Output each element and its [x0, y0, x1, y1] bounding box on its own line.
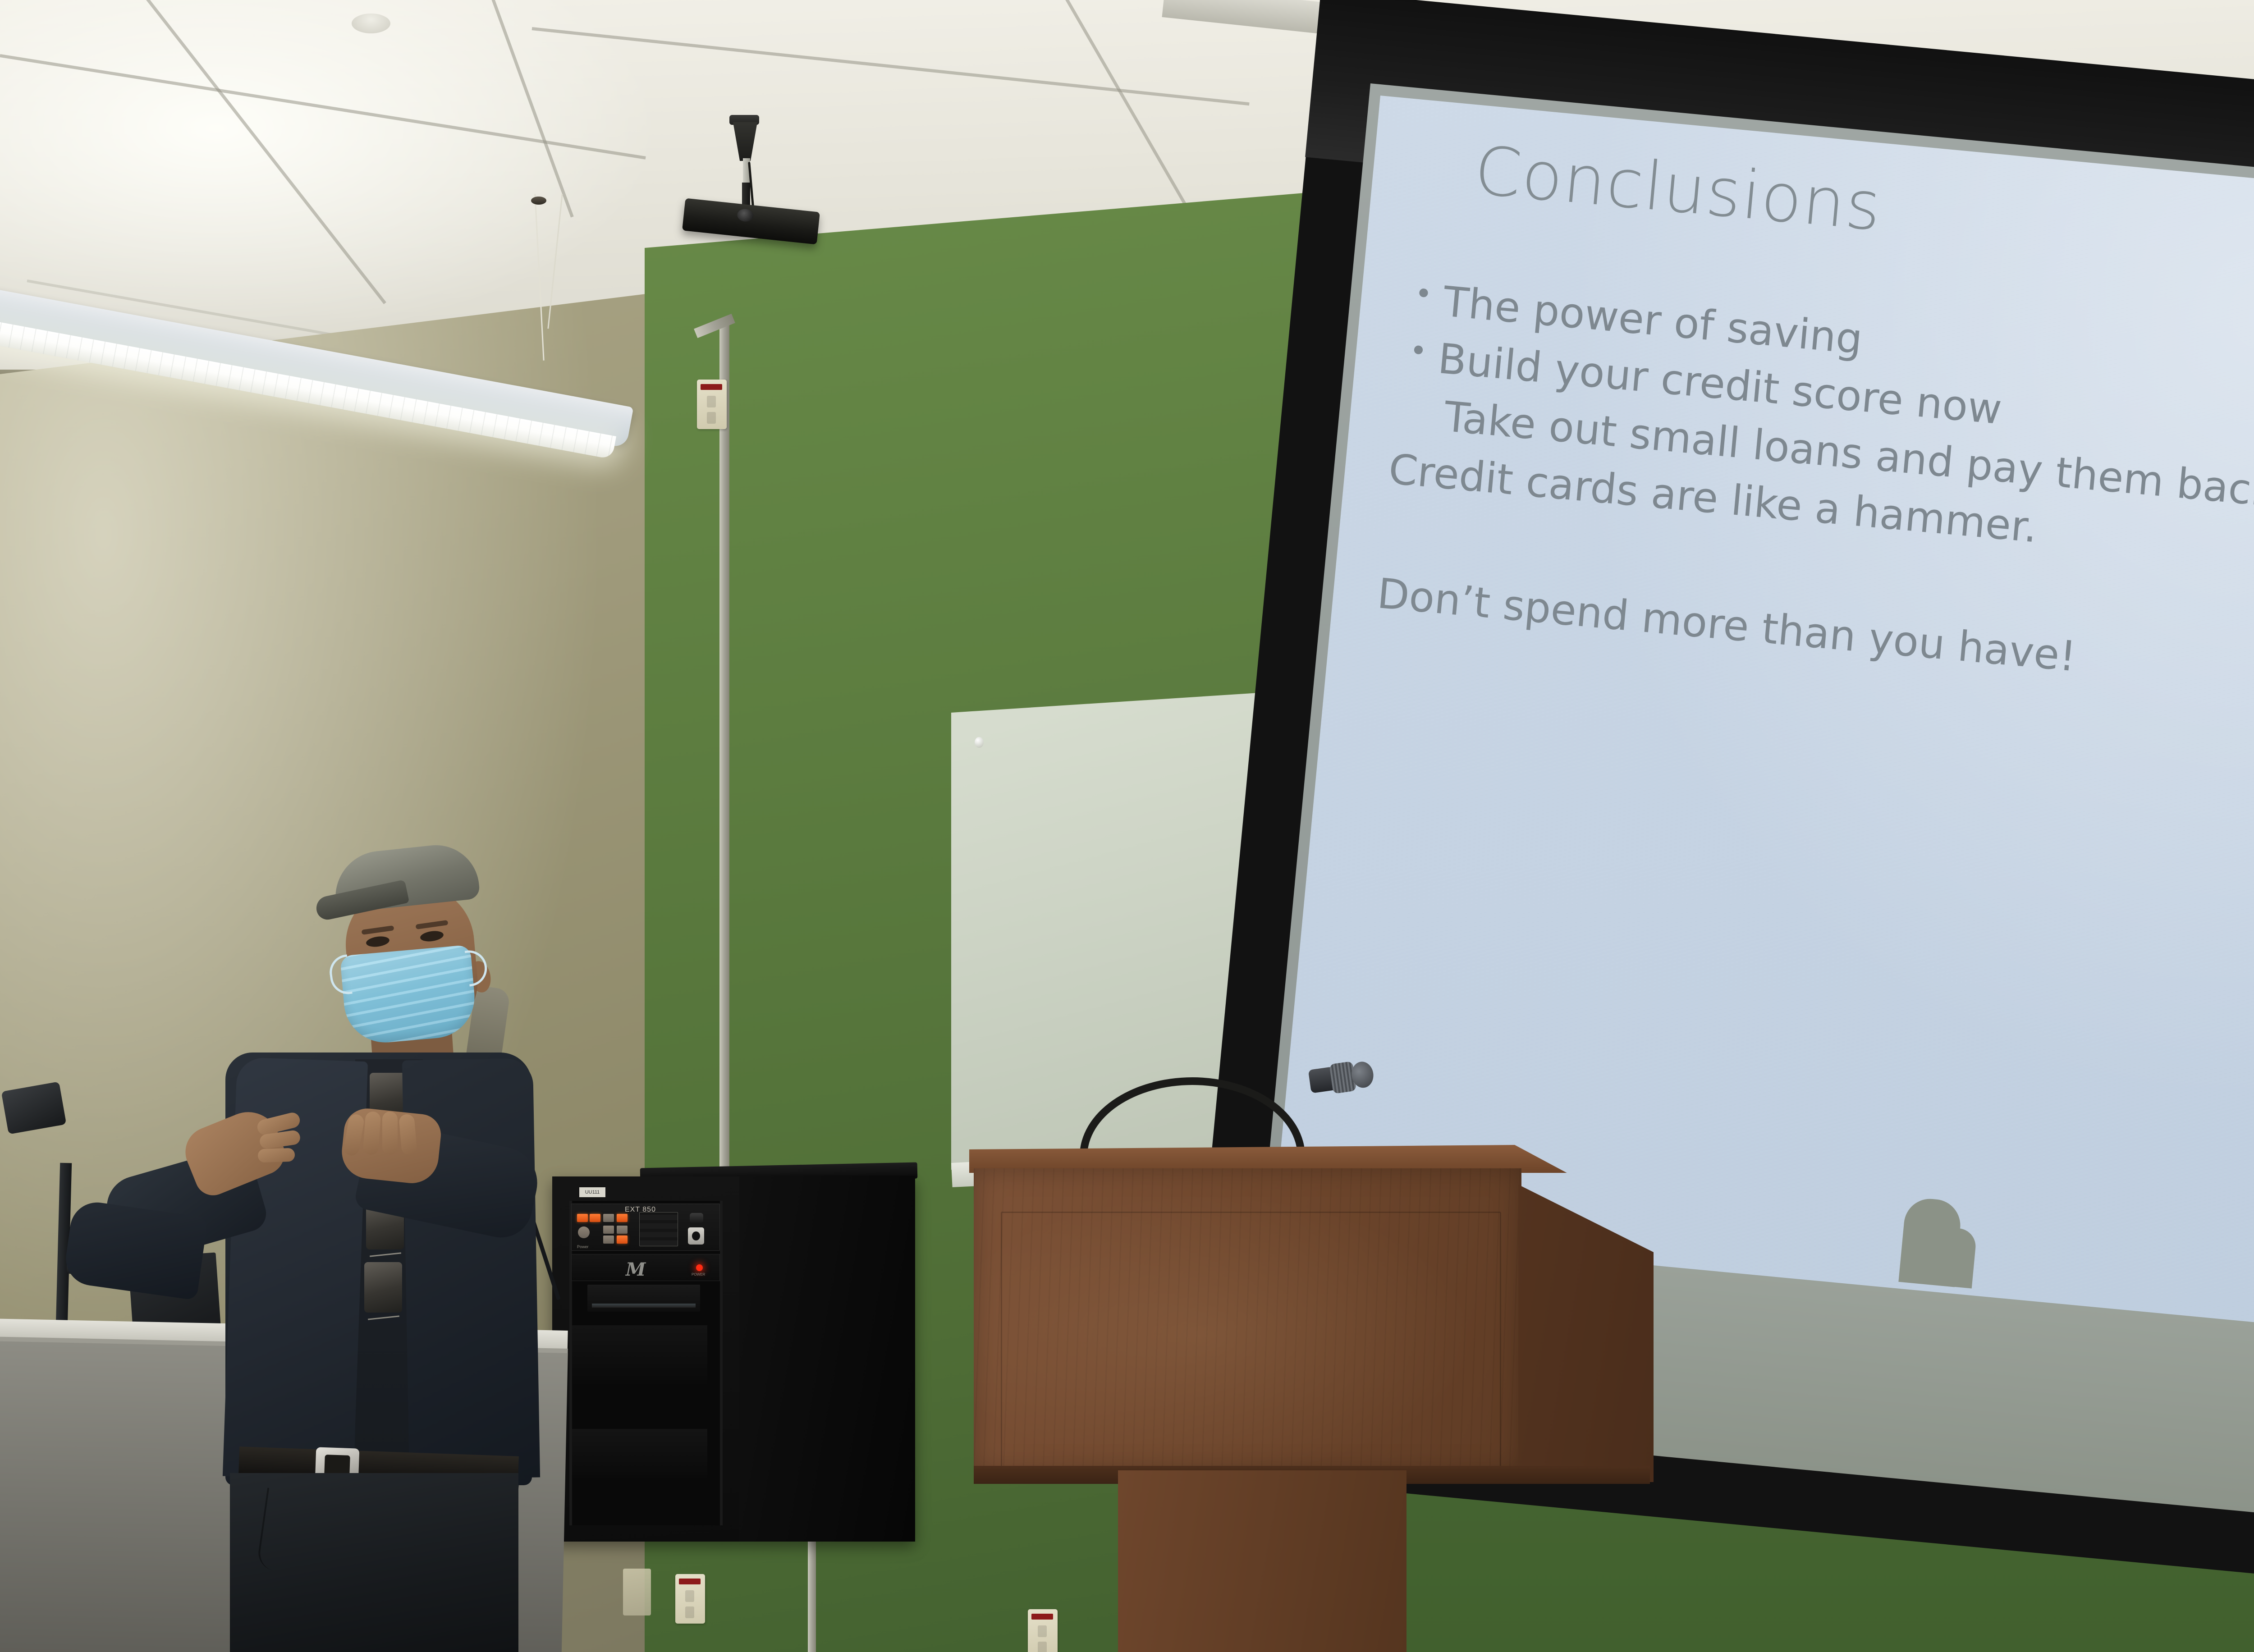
bullet-marker-icon: •: [1413, 271, 1434, 317]
bullet-marker-icon: •: [1407, 328, 1429, 374]
smoke-detector: [352, 14, 390, 33]
presenter-finger: [363, 1111, 381, 1155]
av-panel-volume-knob[interactable]: [578, 1226, 590, 1238]
presenter-pants-pocket: [256, 1487, 334, 1577]
whiteboard-screw: [975, 737, 984, 748]
tee-graphic-portrait: [364, 1262, 402, 1313]
power-led-indicator: [696, 1264, 703, 1271]
ceiling-projector: [676, 115, 825, 241]
rack-blank-panel: [572, 1429, 707, 1478]
lecture-hall-scene: UU 111 Conclusions • The power of saving…: [0, 0, 2254, 1652]
outlet-socket: [707, 396, 716, 407]
podium-front-panel: [974, 1168, 1521, 1473]
av-panel-xlr-jack[interactable]: [688, 1227, 704, 1245]
microphone-gooseneck-curve: [1080, 1077, 1305, 1156]
podium-side-panel: [1518, 1185, 1654, 1482]
av-panel-keypad[interactable]: [639, 1212, 678, 1246]
wall-blank-plate: [623, 1569, 651, 1615]
wall-conduit-lower: [808, 1533, 816, 1652]
wall-outlet-lower-left: [675, 1574, 705, 1624]
rack-blank-panel: [572, 1325, 707, 1384]
projector-body: [682, 198, 820, 245]
rack-media-player[interactable]: [587, 1285, 700, 1312]
power-strip-brand-logo: M: [626, 1259, 646, 1280]
presenter-finger: [382, 1112, 398, 1155]
av-panel-button[interactable]: [617, 1226, 628, 1234]
podium-panel-inset: [1001, 1212, 1501, 1473]
av-rack-asset-tag: UU111: [579, 1187, 605, 1197]
outlet-socket: [685, 1590, 694, 1602]
av-panel-aux-knob[interactable]: [690, 1213, 703, 1223]
rack-power-strip[interactable]: M POWER: [571, 1254, 720, 1281]
av-control-panel[interactable]: EXT 850 Power: [571, 1204, 720, 1251]
av-panel-button[interactable]: [603, 1236, 614, 1244]
av-panel-power-text: Power: [577, 1245, 589, 1249]
outlet-label: [679, 1579, 701, 1584]
podium-pedestal: [1118, 1470, 1406, 1652]
media-player-tray[interactable]: [592, 1304, 696, 1308]
av-panel-button[interactable]: [590, 1214, 600, 1222]
wall-outlet-upper: [697, 380, 727, 429]
av-panel-button[interactable]: [603, 1226, 614, 1234]
projector-mount-cone: [733, 122, 757, 161]
projector-lens: [737, 208, 754, 223]
power-led-label: POWER: [692, 1272, 705, 1277]
av-panel-button[interactable]: [603, 1214, 614, 1222]
av-rack-side-door[interactable]: [739, 1176, 915, 1542]
podium: [969, 1145, 1672, 1652]
presenter: [81, 847, 532, 1652]
outlet-socket: [685, 1606, 694, 1618]
outlet-label: [701, 384, 722, 390]
presenter-finger: [258, 1148, 295, 1163]
av-panel-button[interactable]: [617, 1214, 628, 1222]
av-panel-button[interactable]: [577, 1214, 588, 1222]
face-mask: [340, 945, 478, 1046]
ceiling-sprinkler-head: [531, 197, 546, 205]
slide-content: Conclusions • The power of saving • Buil…: [1328, 126, 2254, 1231]
outlet-socket: [707, 412, 716, 424]
av-panel-button[interactable]: [617, 1236, 628, 1244]
av-rack-asset-tag-text: UU111: [585, 1190, 600, 1195]
